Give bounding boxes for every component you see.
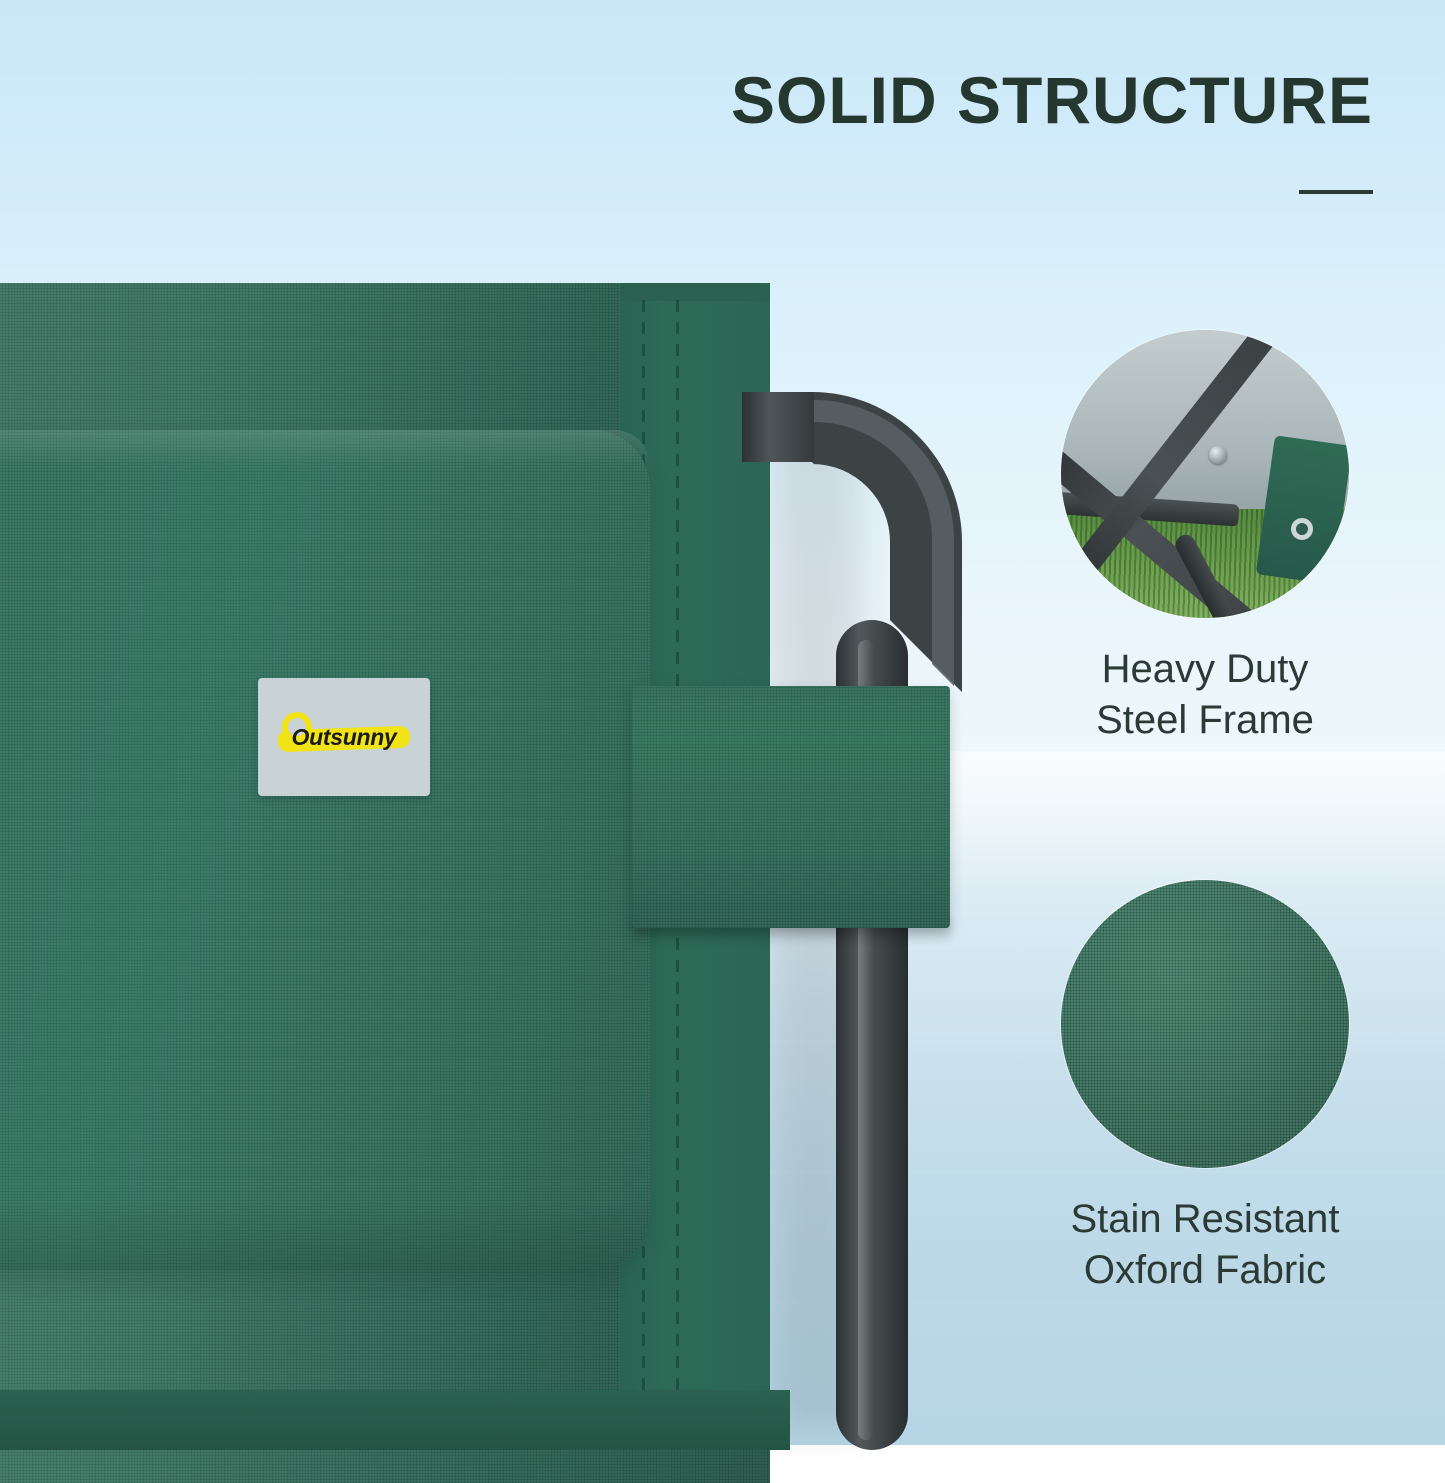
rivet-icon [1209, 446, 1227, 464]
feature-heavy-duty-steel-frame: Heavy Duty Steel Frame [995, 330, 1415, 746]
steel-frame-top-cap [742, 392, 814, 462]
brand-logo-text: Outsunny [292, 724, 397, 751]
cushion-top-edge [0, 430, 650, 466]
strap-weave-texture [632, 686, 950, 928]
cushion-bottom-edge [0, 1200, 650, 1270]
feature-2-label-line1: Stain Resistant [995, 1194, 1415, 1245]
title-underline-rule [1299, 190, 1373, 194]
brand-logo-plate: Outsunny [258, 678, 430, 796]
seat-fabric-lower [0, 1390, 790, 1450]
steel-frame-closeup-image [1061, 330, 1349, 618]
feature-2-label-line2: Oxford Fabric [995, 1245, 1415, 1296]
cushion-weave-texture [0, 430, 650, 1270]
oxford-fabric-swatch-image [1061, 880, 1349, 1168]
feature-1-label-line1: Heavy Duty [995, 644, 1415, 695]
feature-2-label: Stain Resistant Oxford Fabric [995, 1194, 1415, 1296]
grommet-icon [1291, 518, 1313, 540]
fabric-strap [632, 686, 950, 928]
chair-headrest-cushion [0, 430, 650, 1270]
feature-stain-resistant-oxford-fabric: Stain Resistant Oxford Fabric [995, 880, 1415, 1296]
feature-1-label: Heavy Duty Steel Frame [995, 644, 1415, 746]
backrest-top-seam [620, 283, 770, 301]
feature-1-label-line2: Steel Frame [995, 695, 1415, 746]
page-title: SOLID STRUCTURE [731, 62, 1373, 138]
